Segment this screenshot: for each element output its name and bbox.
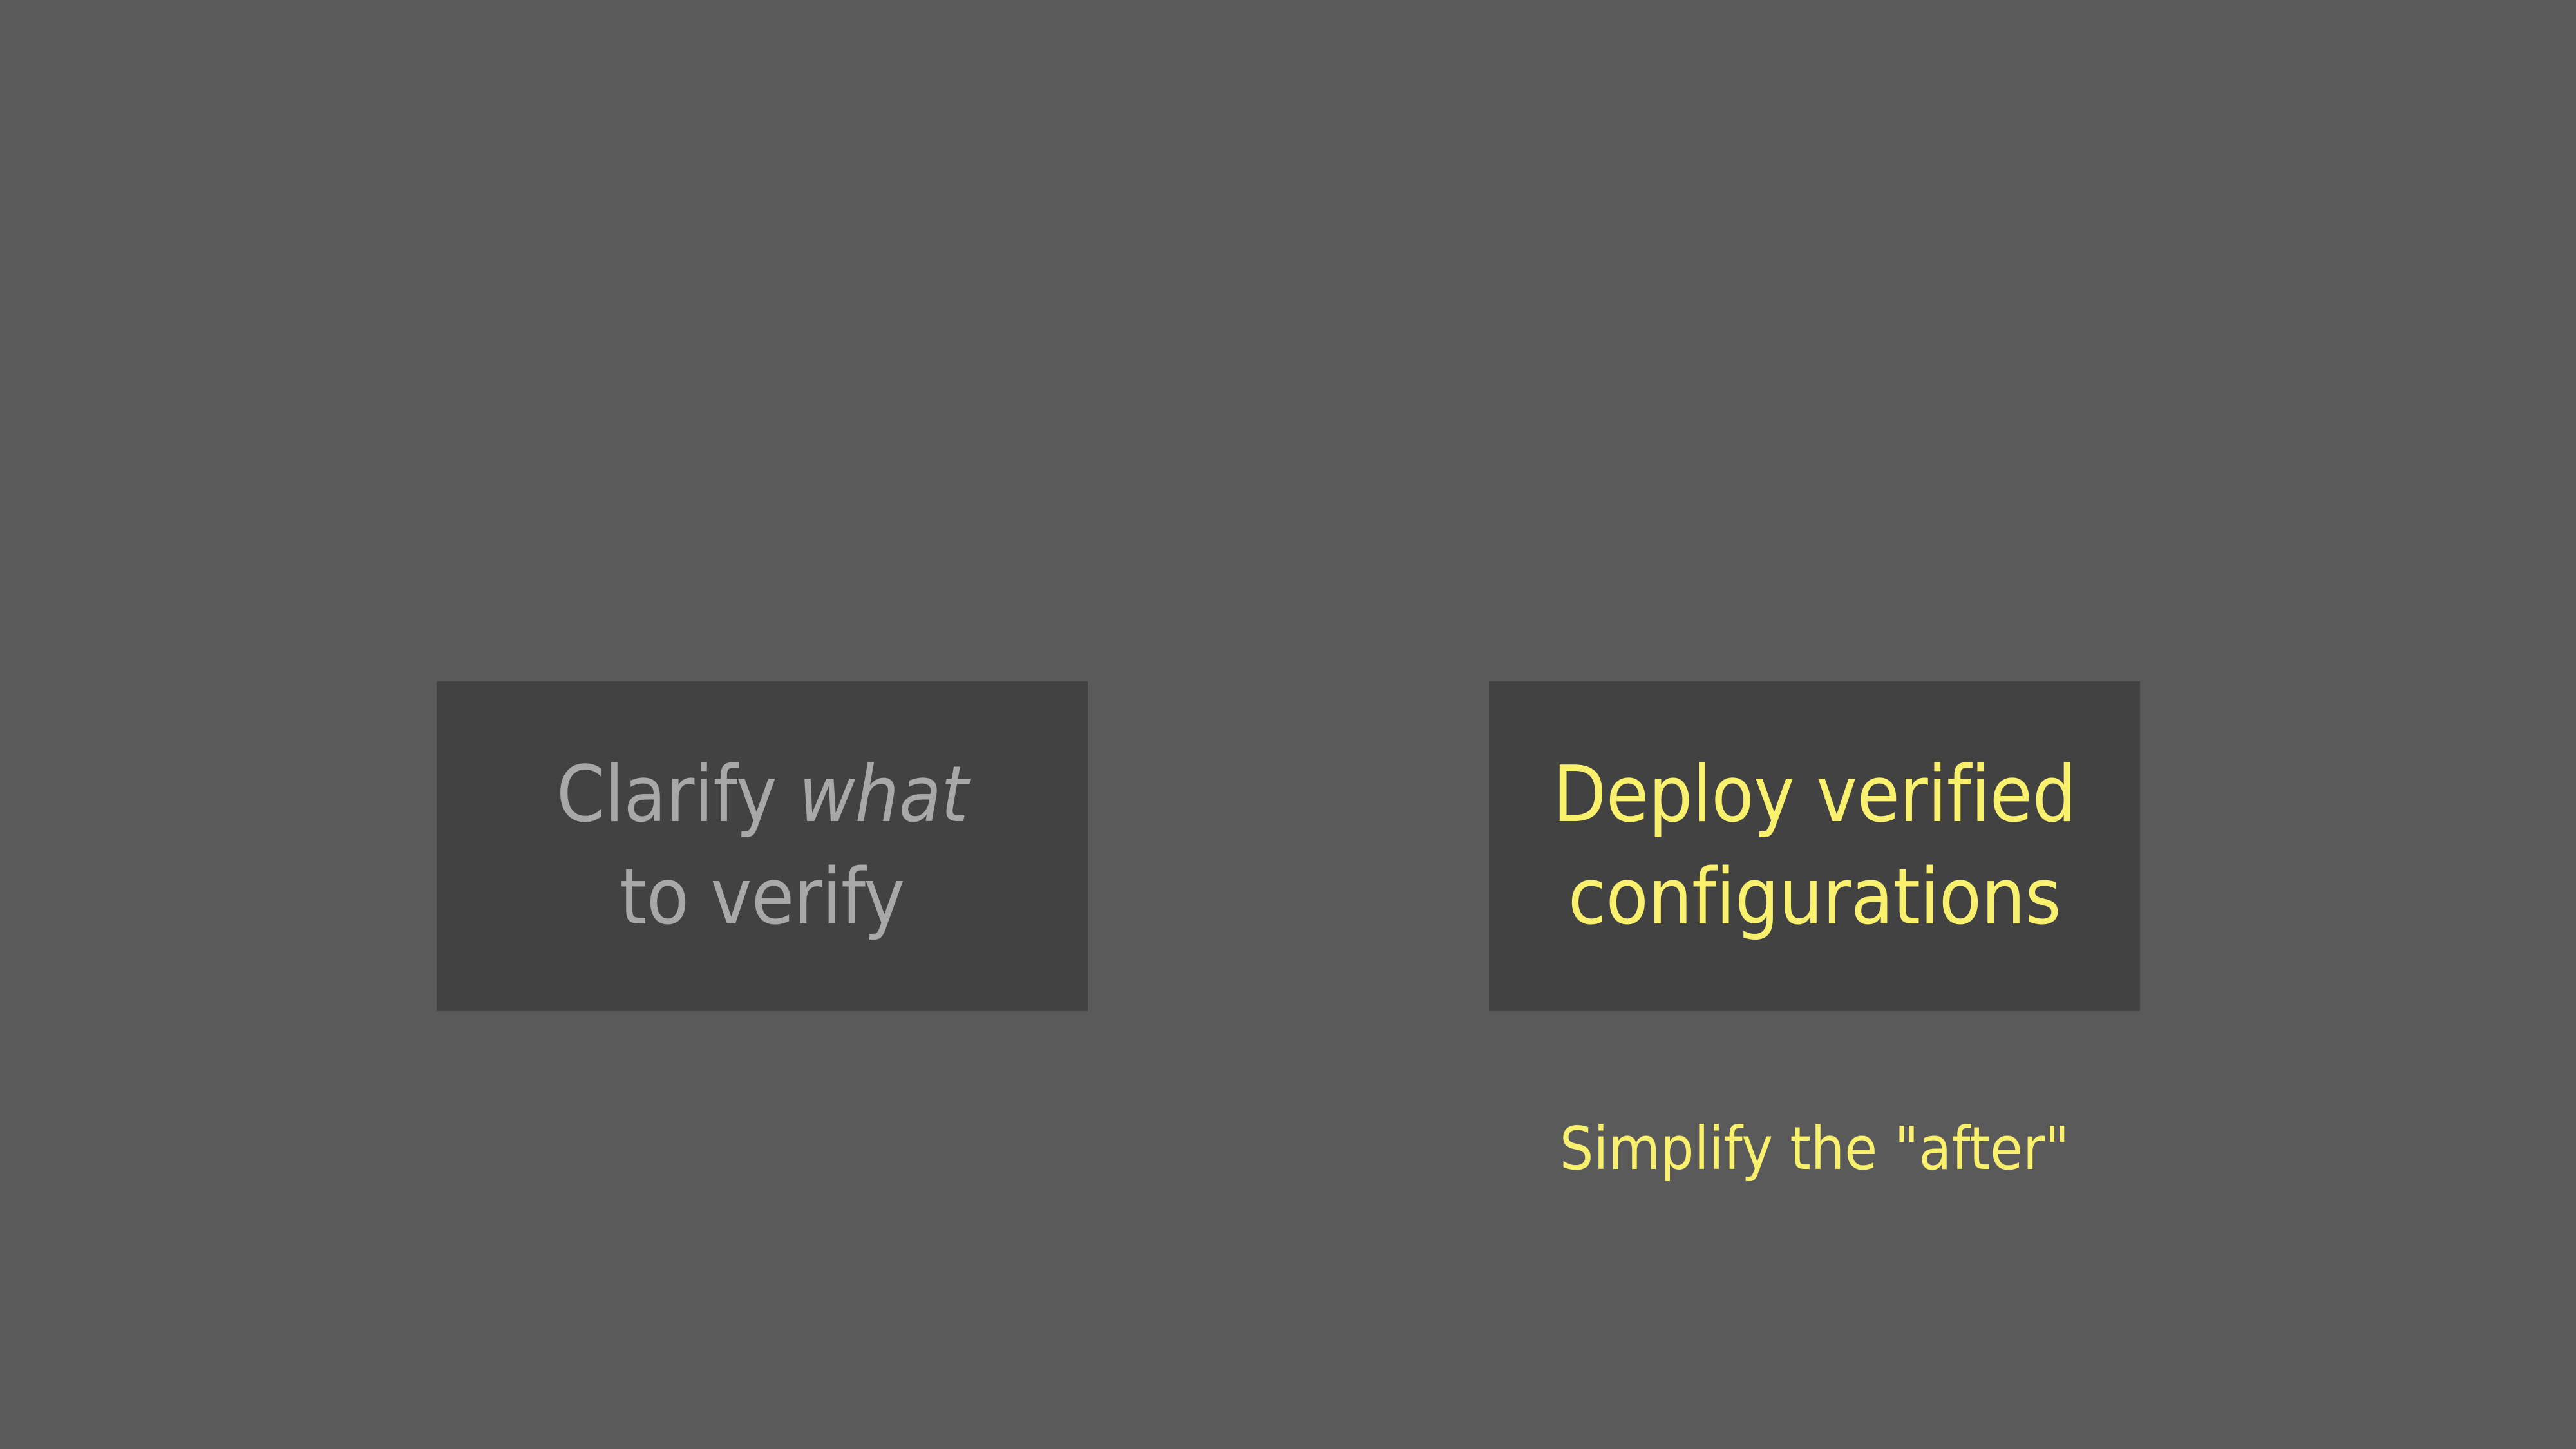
- before-panel[interactable]: Clarify what to verify: [437, 681, 1088, 1011]
- after-panel-caption: Simplify the "after": [1489, 1117, 2140, 1181]
- after-panel[interactable]: Deploy verified configurations: [1489, 681, 2140, 1011]
- before-panel-line-1-prefix: Clarify: [556, 750, 799, 840]
- before-panel-line-1-emphasis: what: [799, 750, 968, 840]
- slide-canvas: Clarify what to verify Deploy verified c…: [0, 0, 2576, 1449]
- after-panel-line-2: configurations: [1568, 846, 2061, 949]
- before-panel-line-1: Clarify what: [556, 744, 968, 846]
- before-panel-line-2: to verify: [620, 846, 905, 949]
- after-panel-line-1: Deploy verified: [1553, 744, 2076, 846]
